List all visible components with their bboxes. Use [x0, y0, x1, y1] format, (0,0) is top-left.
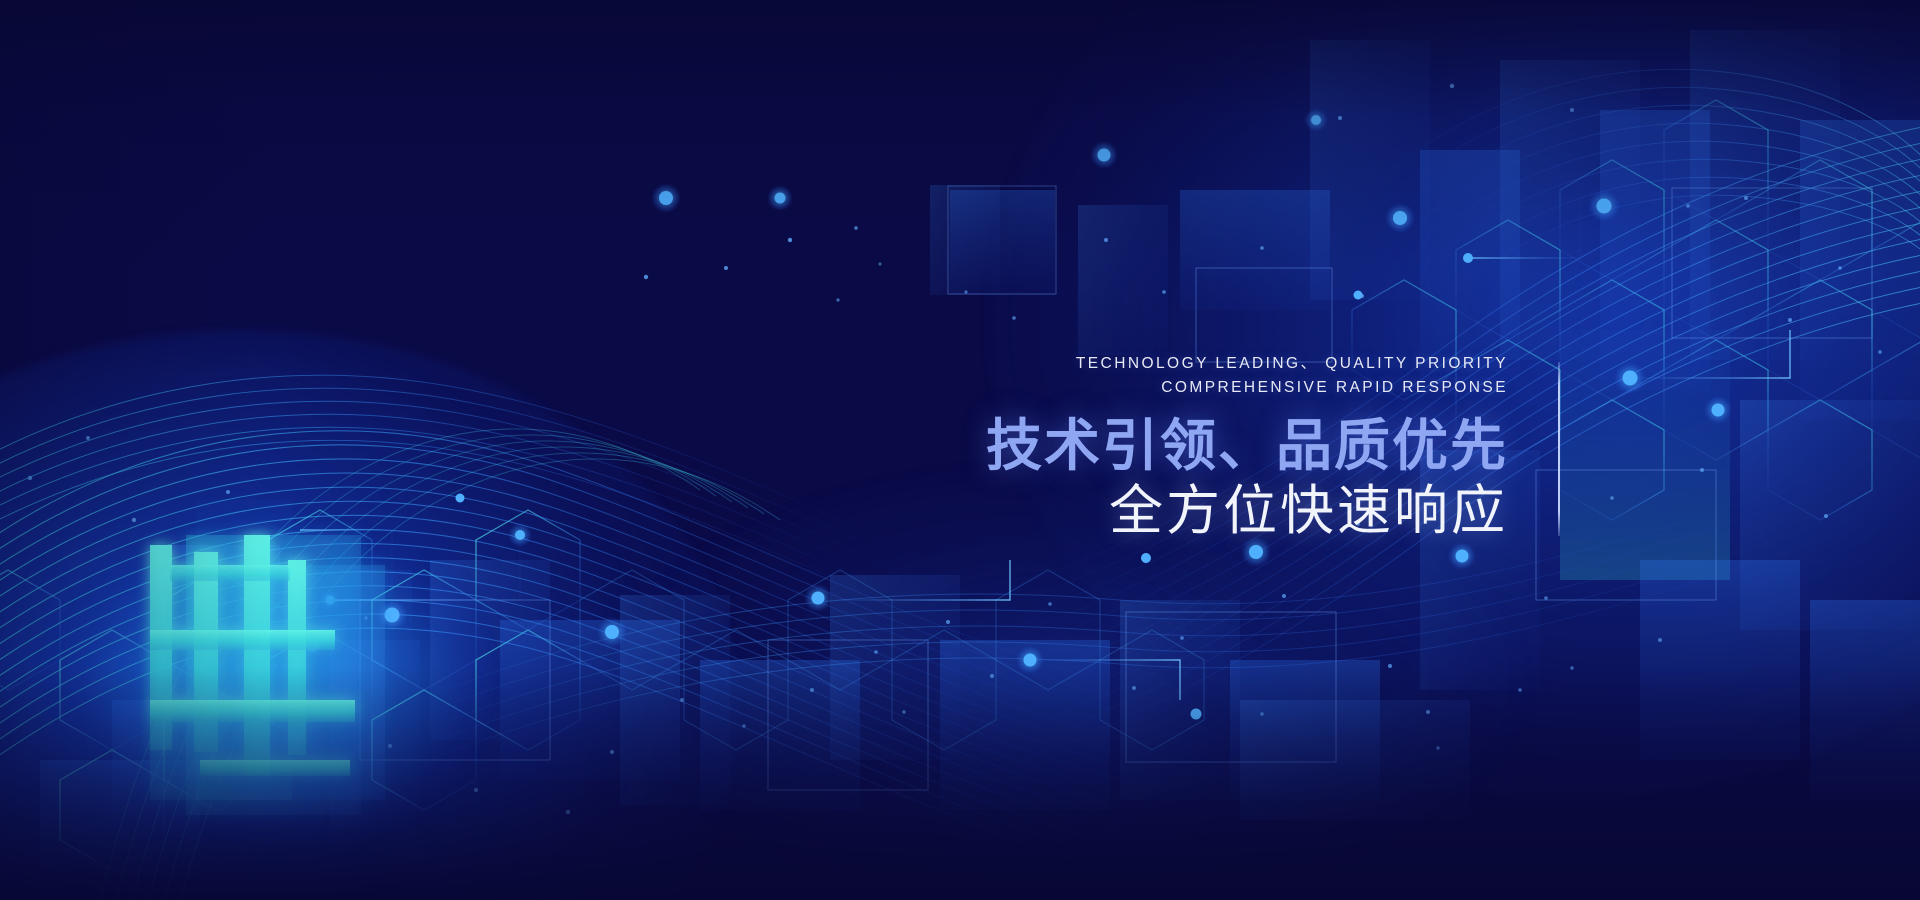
hero-banner: TECHNOLOGY LEADING、 QUALITY PRIORITY COM… — [0, 0, 1920, 900]
eyebrow-line-1: TECHNOLOGY LEADING、 QUALITY PRIORITY — [0, 352, 1508, 376]
headline-line-2: 全方位快速响应 — [0, 479, 1508, 543]
eyebrow-line-2: COMPREHENSIVE RAPID RESPONSE — [0, 376, 1508, 400]
vertical-accent-rule — [1558, 362, 1560, 536]
hero-text-block: TECHNOLOGY LEADING、 QUALITY PRIORITY COM… — [0, 352, 1508, 543]
headline-line-1: 技术引领、品质优先 — [0, 413, 1508, 479]
